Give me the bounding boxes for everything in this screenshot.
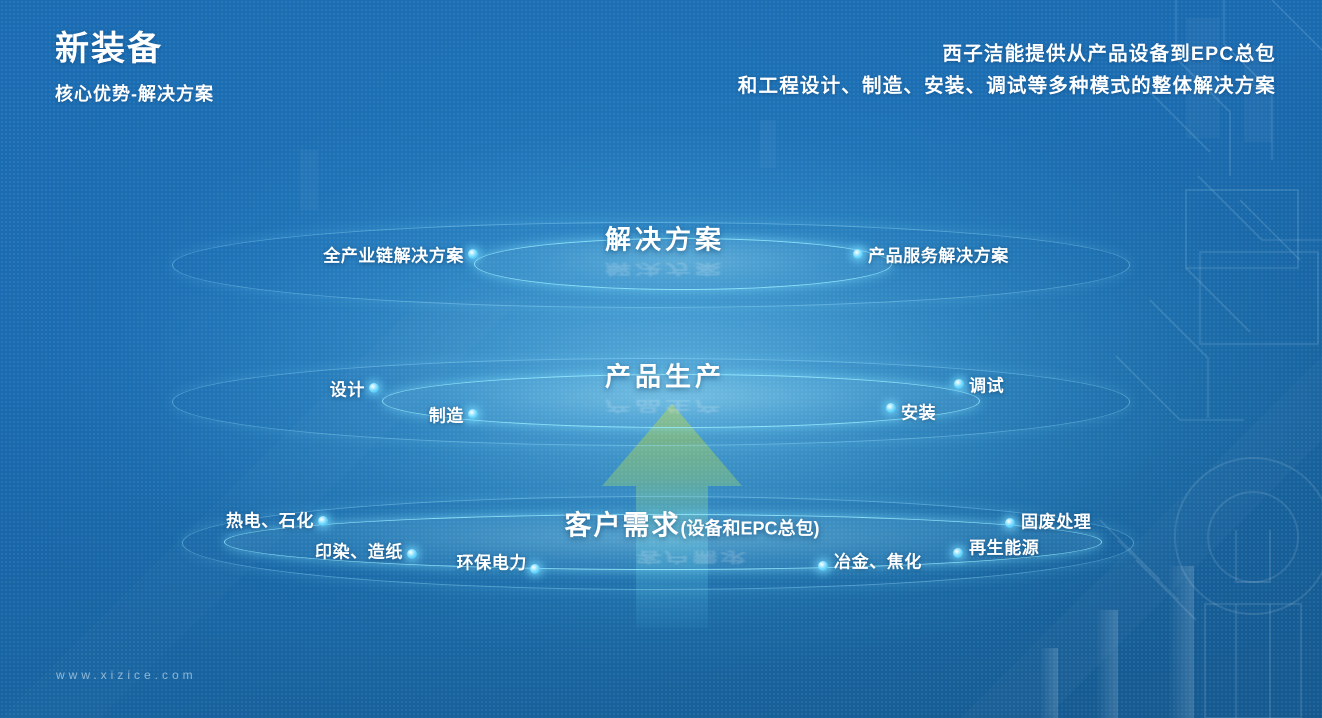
page-title: 新装备 <box>55 28 214 71</box>
slide-canvas: 新装备 核心优势-解决方案 西子洁能提供从产品设备到EPC总包 和工程设计、制造… <box>0 0 1322 718</box>
node-demand-dyeing-paper[interactable] <box>407 549 417 559</box>
header-right: 西子洁能提供从产品设备到EPC总包 和工程设计、制造、安装、调试等多种模式的整体… <box>738 38 1276 102</box>
header-tagline-line2: 和工程设计、制造、安装、调试等多种模式的整体解决方案 <box>738 70 1276 102</box>
node-demand-env-power[interactable] <box>530 564 540 574</box>
node-production-install[interactable] <box>886 403 896 413</box>
node-production-design[interactable] <box>369 383 379 393</box>
ring-demand-title-suffix: (设备和EPC总包) <box>681 519 820 539</box>
page-subtitle: 核心优势-解决方案 <box>55 80 214 106</box>
label-solutions-right: 产品服务解决方案 <box>868 242 1009 267</box>
node-solutions-left[interactable] <box>468 249 478 259</box>
ring-production-title: 产品生产 <box>605 357 725 394</box>
node-production-manufacture[interactable] <box>468 409 478 419</box>
label-demand-dyeing-paper: 印染、造纸 <box>315 538 403 563</box>
label-production-design: 设计 <box>330 376 365 401</box>
label-production-commission: 调试 <box>969 372 1004 397</box>
footer-website: www.xizice.com <box>56 668 197 682</box>
header-tagline-line1: 西子洁能提供从产品设备到EPC总包 <box>738 38 1276 70</box>
label-demand-thermal-petro: 热电、石化 <box>226 507 314 532</box>
node-demand-thermal-petro[interactable] <box>318 516 328 526</box>
ring-demand-title-main: 客户需求 <box>565 511 681 541</box>
header-left: 新装备 核心优势-解决方案 <box>55 28 214 106</box>
label-production-install: 安装 <box>901 399 936 424</box>
label-demand-renewable: 再生能源 <box>969 534 1039 559</box>
node-solutions-right[interactable] <box>853 249 863 259</box>
node-production-commission[interactable] <box>954 379 964 389</box>
label-production-manufacture: 制造 <box>429 402 464 427</box>
ring-solutions-title: 解决方案 <box>605 220 725 257</box>
label-demand-env-power: 环保电力 <box>457 549 527 574</box>
label-demand-metallurgy-coking: 冶金、焦化 <box>834 548 922 573</box>
label-solutions-left: 全产业链解决方案 <box>323 242 464 267</box>
node-demand-solid-waste[interactable] <box>1005 518 1015 528</box>
ring-demand-title: 客户需求(设备和EPC总包) <box>565 504 820 543</box>
label-demand-solid-waste: 固废处理 <box>1021 508 1091 533</box>
node-demand-metallurgy-coking[interactable] <box>818 561 828 571</box>
node-demand-renewable[interactable] <box>953 548 963 558</box>
